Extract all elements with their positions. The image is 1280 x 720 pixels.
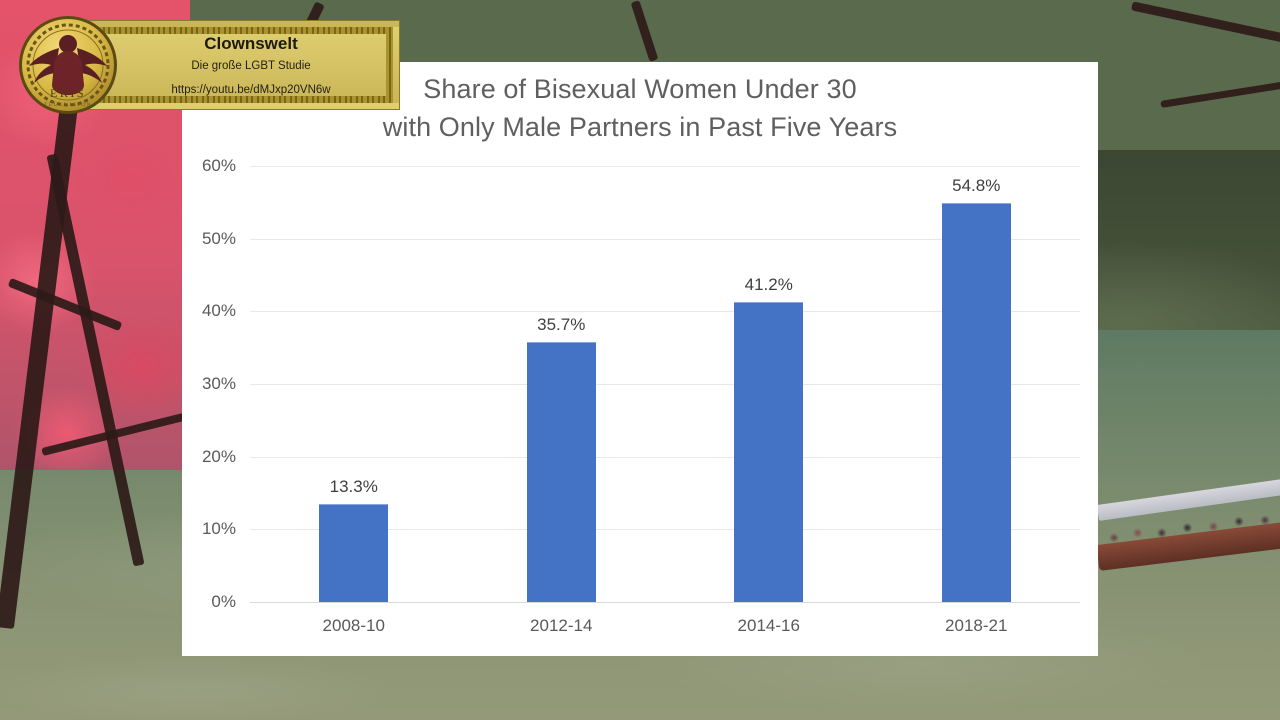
logo-emblem-icon: ERIS TELEVISION: [13, 15, 123, 115]
y-axis-tick-label: 10%: [202, 519, 236, 539]
svg-text:TELEVISION: TELEVISION: [44, 102, 92, 108]
gridline: 60%: [250, 166, 1080, 167]
bar-chart-panel: Share of Bisexual Women Under 30 with On…: [182, 62, 1098, 656]
bar-value-label: 41.2%: [745, 275, 793, 295]
y-axis-tick-label: 50%: [202, 229, 236, 249]
eris-television-logo: ERIS TELEVISION: [13, 15, 123, 115]
channel-subtitle: Die große LGBT Studie: [191, 59, 310, 73]
x-axis-tick-label: 2014-16: [738, 616, 800, 636]
video-frame: Share of Bisexual Women Under 30 with On…: [0, 0, 1280, 720]
banner-text-block: Clownswelt Die große LGBT Studie https:/…: [119, 27, 383, 103]
tourist-boat: [1098, 505, 1280, 585]
bar: 41.2%2014-16: [734, 302, 803, 602]
y-axis-tick-label: 40%: [202, 301, 236, 321]
channel-url[interactable]: https://youtu.be/dMJxp20VN6w: [171, 83, 330, 97]
bar-value-label: 13.3%: [330, 477, 378, 497]
plot-area: 0%10%20%30%40%50%60%13.3%2008-1035.7%201…: [250, 166, 1080, 602]
bar: 35.7%2012-14: [527, 342, 596, 602]
y-axis-tick-label: 20%: [202, 447, 236, 467]
y-axis-tick-label: 60%: [202, 156, 236, 176]
bar-value-label: 54.8%: [952, 176, 1000, 196]
bar: 54.8%2018-21: [942, 203, 1011, 602]
y-axis-tick-label: 0%: [211, 592, 236, 612]
svg-text:ERIS: ERIS: [50, 86, 86, 100]
x-axis-tick-label: 2008-10: [323, 616, 385, 636]
gridline: 0%: [250, 602, 1080, 603]
bar-value-label: 35.7%: [537, 315, 585, 335]
y-axis-tick-label: 30%: [202, 374, 236, 394]
bar: 13.3%2008-10: [319, 504, 388, 602]
x-axis-tick-label: 2012-14: [530, 616, 592, 636]
x-axis-tick-label: 2018-21: [945, 616, 1007, 636]
channel-name: Clownswelt: [204, 34, 298, 54]
chart-title-line-2: with Only Male Partners in Past Five Yea…: [182, 108, 1098, 146]
